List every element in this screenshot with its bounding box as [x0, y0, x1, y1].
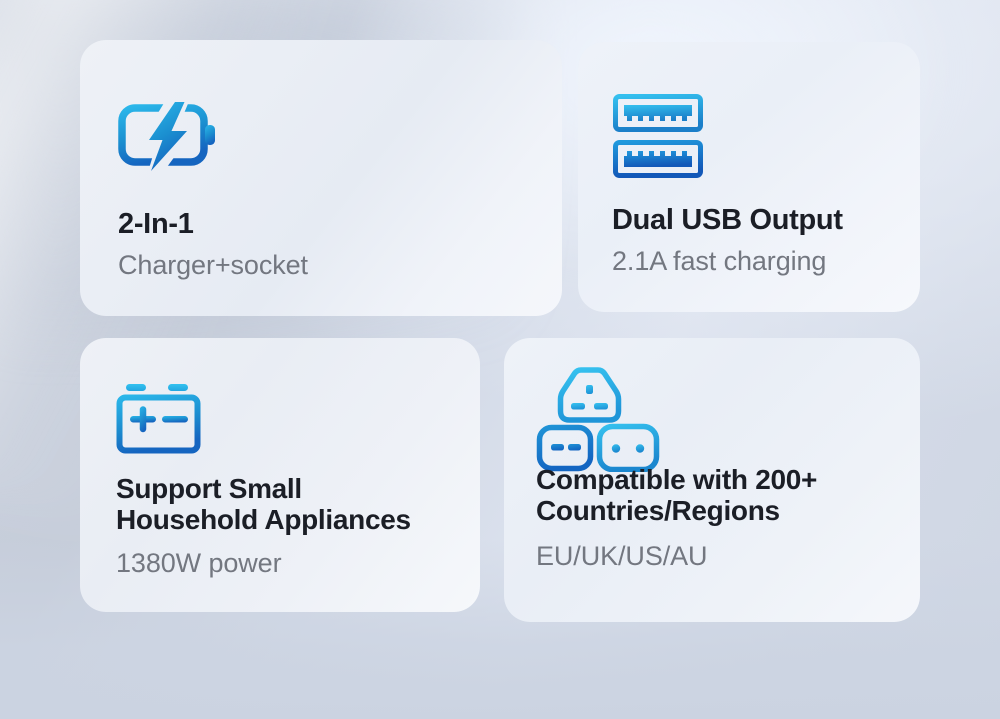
card-title: Support Small Household Appliances — [116, 473, 411, 536]
uk-socket — [561, 370, 619, 420]
card-title: Compatible with 200+ Countries/Regions — [536, 464, 817, 527]
feature-card-dual-usb: Dual USB Output 2.1A fast charging — [578, 42, 920, 312]
feature-card-global-compatibility: Compatible with 200+ Countries/Regions E… — [504, 338, 920, 622]
feature-card-two-in-one: 2-In-1 Charger+socket — [80, 40, 562, 316]
feature-card-household-appliances: Support Small Household Appliances 1380W… — [80, 338, 480, 612]
car-battery-icon — [116, 382, 204, 463]
card-subtitle: EU/UK/US/AU — [536, 541, 707, 572]
us-socket — [540, 428, 591, 469]
card-subtitle: 1380W power — [116, 548, 282, 579]
card-title: Dual USB Output — [612, 204, 843, 236]
card-title: 2-In-1 — [118, 208, 194, 240]
battery-charging-icon — [118, 98, 222, 179]
plug-sockets-icon — [536, 364, 660, 477]
usb-dual-port-icon — [612, 92, 704, 189]
card-subtitle: Charger+socket — [118, 250, 308, 281]
card-subtitle: 2.1A fast charging — [612, 246, 826, 277]
